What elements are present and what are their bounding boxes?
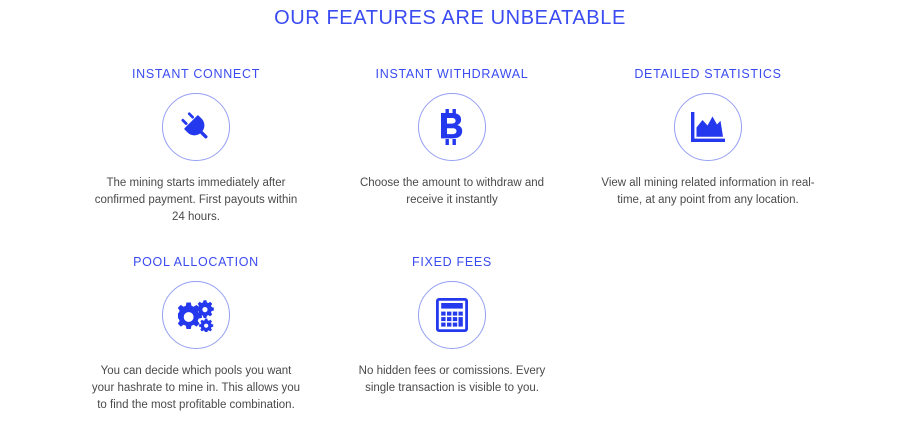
feature-title: INSTANT CONNECT: [132, 66, 260, 82]
feature-card-pool-allocation[interactable]: POOL ALLOCATION You can decide which poo…: [68, 254, 324, 414]
feature-icon-circle: [418, 93, 486, 161]
feature-title: DETAILED STATISTICS: [634, 66, 781, 82]
feature-description: Choose the amount to withdraw and receiv…: [345, 175, 560, 209]
features-grid: INSTANT CONNECT The mining starts immedi…: [68, 66, 838, 442]
feature-description: No hidden fees or comissions. Every sing…: [345, 363, 560, 397]
area-chart-icon: [691, 112, 725, 142]
feature-card-fixed-fees[interactable]: FIXED FEES: [324, 254, 580, 414]
feature-icon-circle: [162, 281, 230, 349]
gears-icon: [178, 299, 214, 332]
feature-title: INSTANT WITHDRAWAL: [376, 66, 529, 82]
feature-card-empty-slot: [580, 254, 836, 414]
bitcoin-icon: [436, 109, 468, 145]
feature-icon-circle: [418, 281, 486, 349]
feature-title: FIXED FEES: [412, 254, 492, 270]
feature-card-instant-withdrawal[interactable]: INSTANT WITHDRAWAL Choose the amount to …: [324, 66, 580, 226]
feature-description: The mining starts immediately after conf…: [89, 175, 304, 226]
feature-card-detailed-statistics[interactable]: DETAILED STATISTICS View all mining rela…: [580, 66, 836, 226]
feature-icon-circle: [162, 93, 230, 161]
feature-description: You can decide which pools you want your…: [89, 363, 304, 414]
page-title: OUR FEATURES ARE UNBEATABLE: [0, 0, 900, 31]
feature-title: POOL ALLOCATION: [133, 254, 259, 270]
feature-icon-circle: [674, 93, 742, 161]
feature-card-instant-connect[interactable]: INSTANT CONNECT The mining starts immedi…: [68, 66, 324, 226]
calculator-icon: [436, 298, 468, 332]
plug-icon: [179, 110, 213, 144]
features-section: OUR FEATURES ARE UNBEATABLE INSTANT CONN…: [0, 0, 900, 427]
feature-description: View all mining related information in r…: [601, 175, 816, 209]
